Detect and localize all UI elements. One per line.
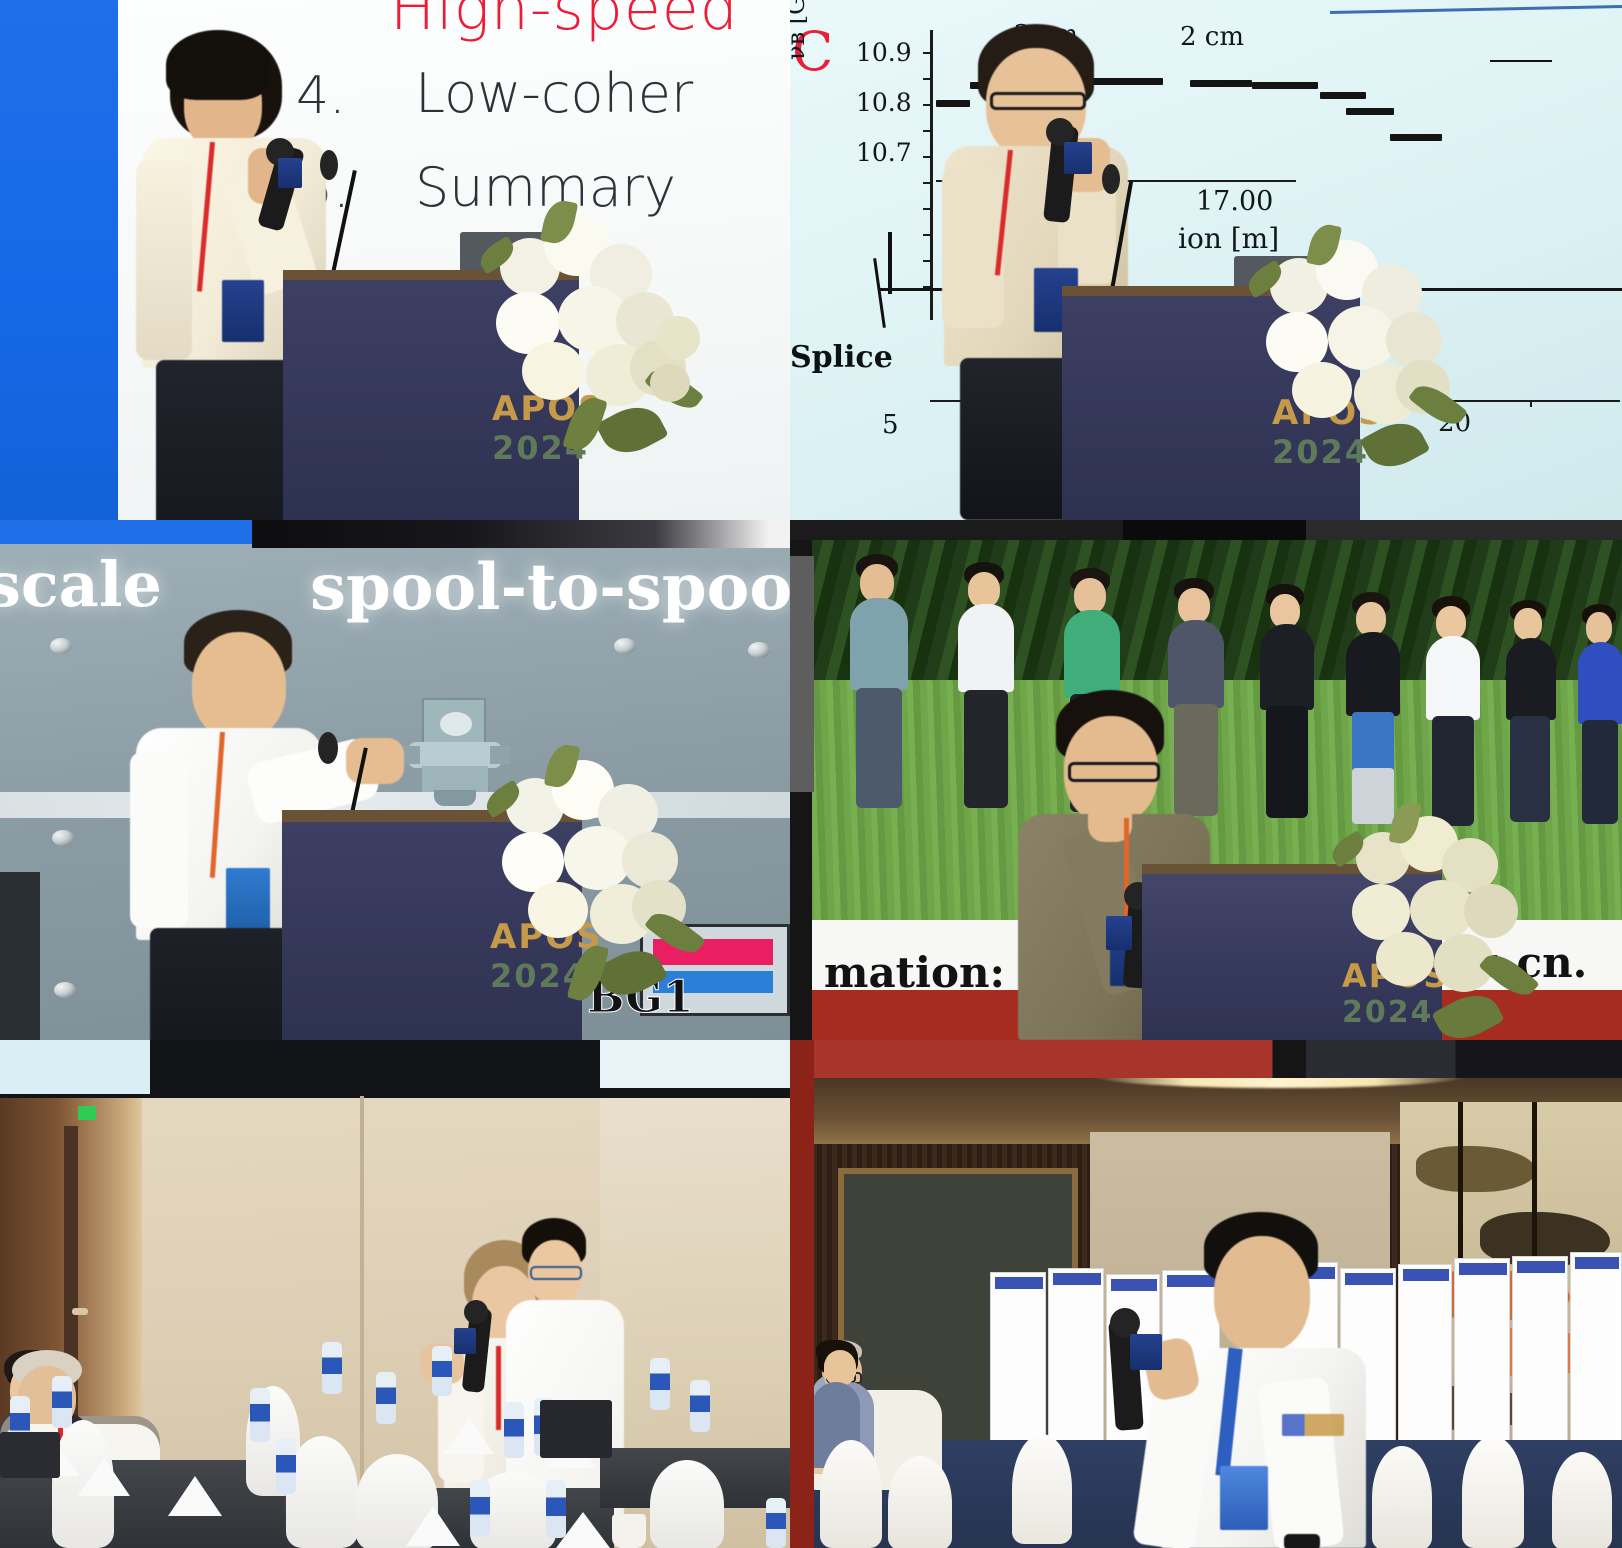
water-bottle	[276, 1438, 296, 1494]
microphone-flag	[1106, 916, 1132, 950]
question-asker-figure	[1138, 1212, 1438, 1548]
panel-audience-question	[0, 1040, 790, 1548]
microphone-head	[464, 1300, 488, 1324]
x-tick-5: 5	[882, 410, 899, 440]
water-bottle	[470, 1480, 490, 1536]
slide-blue-band	[0, 520, 252, 544]
chair	[650, 1460, 724, 1548]
panel-speaker-brillouin-slide: C 10.9 10.8 10.7 νʙ [GHz] 2 cm 2 cm 17.0…	[790, 0, 1622, 520]
wristwatch	[1284, 1534, 1320, 1548]
photo-collage: High-speed 4. Low-coher 5. Summary APOS	[0, 0, 1622, 1548]
water-bottle	[546, 1480, 566, 1538]
panel-speaker-outline-slide: High-speed 4. Low-coher 5. Summary APOS	[0, 0, 790, 520]
flower-arrangement	[478, 744, 728, 1004]
trousers	[150, 928, 300, 1040]
slide-dark-slab	[0, 872, 40, 1040]
flower-arrangement	[1322, 802, 1572, 1040]
blue-side-strip	[0, 0, 118, 520]
microphone-flag	[1064, 142, 1092, 174]
shirt-apos-logo	[1282, 1414, 1344, 1436]
water-bottle	[504, 1402, 524, 1458]
slide-line-high-speed: High-speed	[390, 0, 739, 44]
panel-top-dark-band	[790, 520, 1622, 540]
microphone-flag	[1130, 1334, 1162, 1370]
water-bottle	[650, 1358, 670, 1410]
annotation-2cm-right: 2 cm	[1180, 22, 1244, 52]
slide-left-gray-block	[790, 556, 814, 792]
panel-speaker-spool-slide: scale spool-to-spoo FBG1	[0, 520, 790, 1040]
water-bottle	[690, 1380, 710, 1432]
gooseneck-microphone-head	[1102, 164, 1120, 194]
projection-screen-edge-right	[600, 1040, 790, 1088]
water-bottle	[376, 1372, 396, 1424]
door-handle	[72, 1308, 88, 1315]
flower-arrangement	[1238, 222, 1488, 472]
eyeglasses	[530, 1266, 582, 1280]
plot-y-axis	[930, 30, 933, 320]
y-axis-label: νʙ [GHz]	[790, 0, 810, 60]
panel-speaker-group-photo-slide: mation: le du.cn. APOS 2024	[790, 520, 1622, 1040]
badge	[222, 280, 264, 342]
badge	[1220, 1466, 1268, 1530]
laptop	[0, 1432, 60, 1478]
gooseneck-microphone-head	[320, 150, 338, 180]
eyeglasses	[990, 92, 1086, 110]
slide-line-low-coherence: Low-coher	[415, 62, 693, 125]
panel-poster-hall-question	[790, 1040, 1622, 1548]
exit-sign	[78, 1106, 96, 1120]
y-tick-10-8: 10.8	[856, 88, 912, 117]
laptop	[540, 1400, 612, 1458]
badge	[226, 868, 270, 934]
water-bottle	[766, 1498, 786, 1548]
splice-label: Splice	[790, 340, 893, 375]
y-tick-10-7: 10.7	[856, 138, 912, 167]
gooseneck-microphone-head	[318, 732, 338, 764]
panel-top-edge-band	[790, 1040, 1622, 1078]
water-bottle	[250, 1388, 270, 1442]
microphone-flag	[278, 158, 302, 188]
flower-arrangement	[470, 200, 720, 460]
annotation-position-17: 17.00	[1196, 186, 1273, 217]
coffee-cup	[612, 1514, 646, 1548]
slide-dark-band	[252, 520, 790, 548]
water-bottle	[52, 1376, 72, 1428]
water-bottle	[432, 1346, 452, 1396]
annotation-arrow	[1490, 60, 1552, 62]
projection-screen-edge-left	[0, 1040, 150, 1094]
water-bottle	[322, 1342, 342, 1394]
chair	[286, 1436, 358, 1548]
panel-left-red-band	[790, 1040, 814, 1548]
eyeglasses	[1068, 762, 1160, 782]
y-tick-10-9: 10.9	[856, 38, 912, 67]
